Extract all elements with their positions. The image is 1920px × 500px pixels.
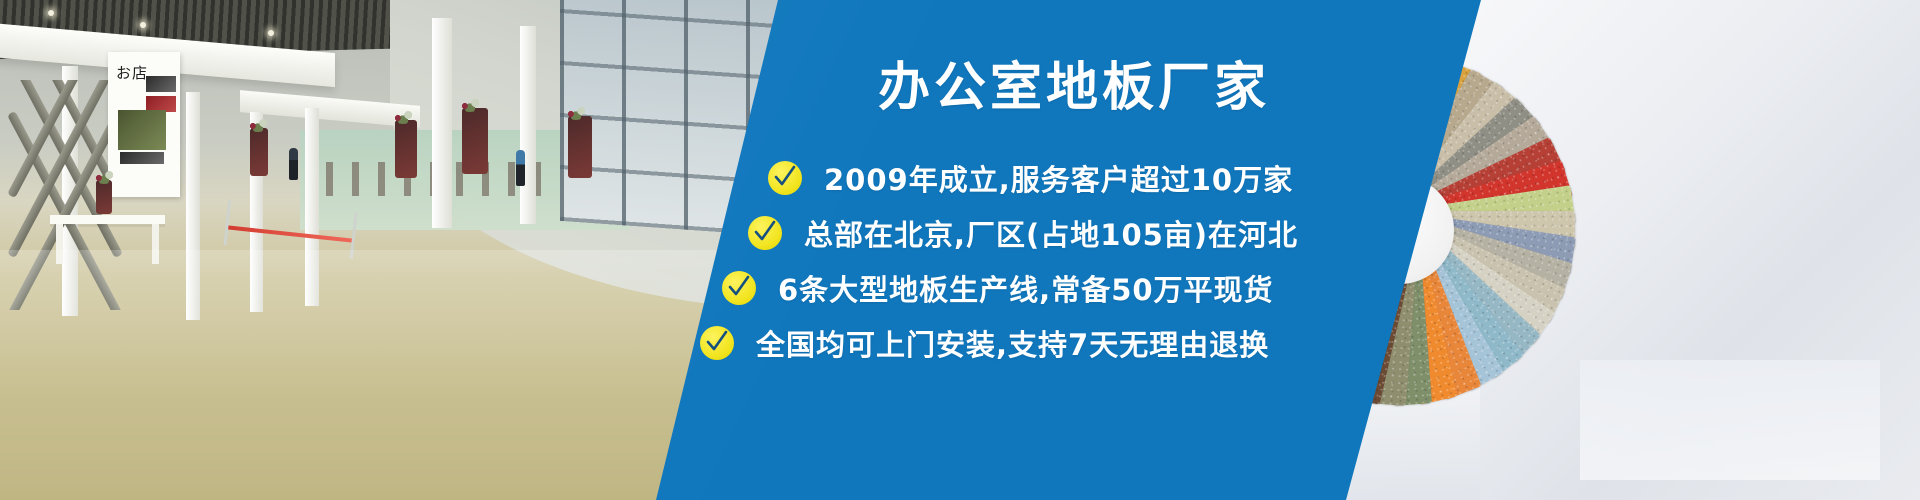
list-item-label: 全国均可上门安装,支持7天无理由退换 [756,322,1269,364]
selling-points-list: 2009年成立,服务客户超过10万家 总部在北京,厂区(占地105亩)在河北 6… [0,150,1920,370]
check-circle-icon [768,161,802,195]
list-item: 6条大型地板生产线,常备50万平现货 [0,260,1920,315]
list-item-label: 总部在北京,厂区(占地105亩)在河北 [804,212,1298,254]
page-title: 办公室地板厂家 [878,62,1270,114]
list-item: 全国均可上门安装,支持7天无理由退换 [0,315,1920,370]
check-circle-icon [722,271,756,305]
list-item-label: 6条大型地板生产线,常备50万平现货 [778,267,1274,309]
marketing-copy: 办公室地板厂家 2009年成立,服务客户超过10万家 总部在北京,厂区(占地10… [0,0,1920,500]
check-circle-icon [700,326,734,360]
list-item: 总部在北京,厂区(占地105亩)在河北 [0,205,1920,260]
check-circle-icon [748,216,782,250]
promo-banner: お店 办公室地板厂家 [0,0,1920,500]
list-item: 2009年成立,服务客户超过10万家 [0,150,1920,205]
list-item-label: 2009年成立,服务客户超过10万家 [824,157,1293,199]
